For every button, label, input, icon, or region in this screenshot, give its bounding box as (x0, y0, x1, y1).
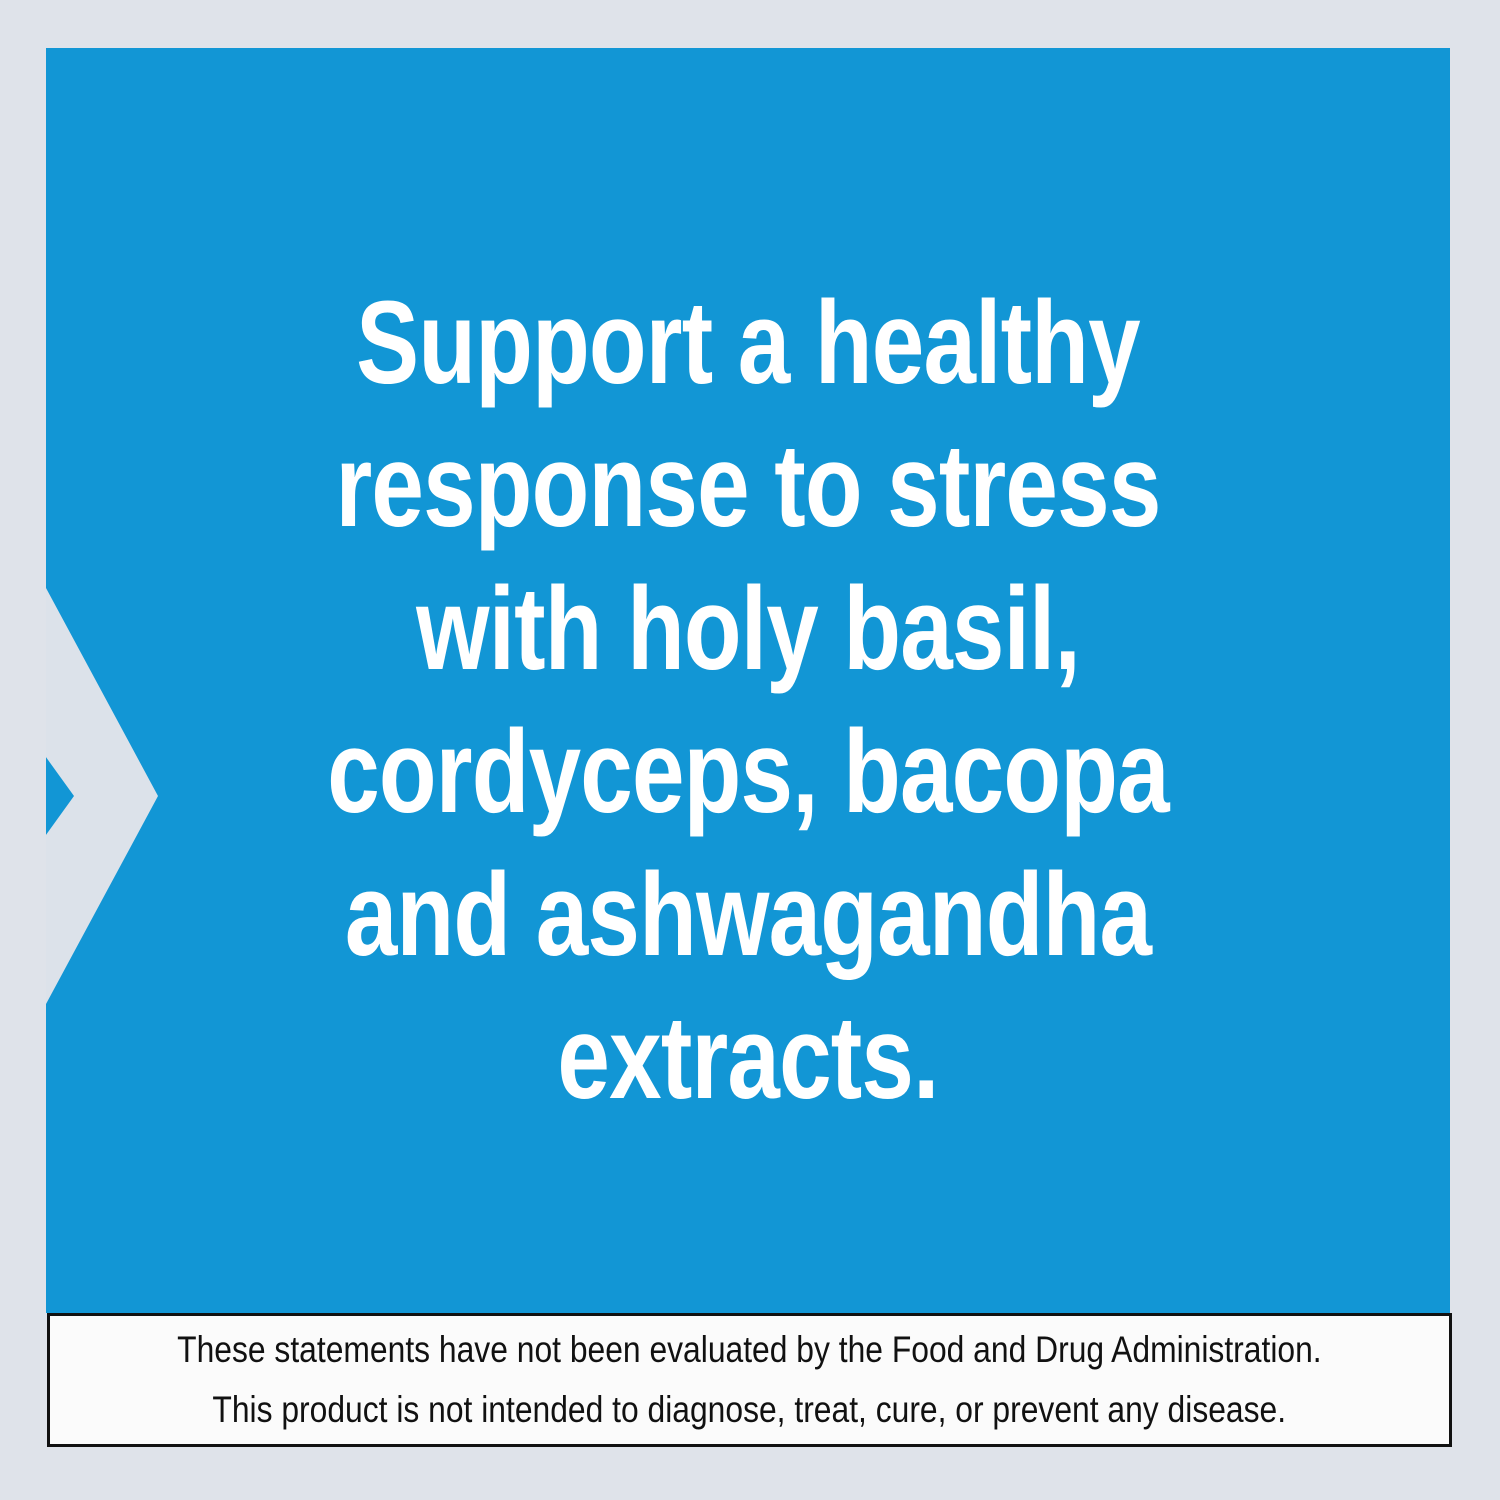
headline-line-6: extracts. (186, 987, 1309, 1130)
headline-line-1: Support a healthy (186, 272, 1309, 415)
marketing-image-canvas: Support a healthy response to stress wit… (0, 0, 1500, 1500)
disclaimer-line-1: These statements have not been evaluated… (177, 1320, 1321, 1380)
headline-line-3: with holy basil, (186, 558, 1309, 701)
headline-line-5: and ashwagandha (186, 844, 1309, 987)
headline-line-4: cordyceps, bacopa (186, 701, 1309, 844)
hero-panel: Support a healthy response to stress wit… (46, 48, 1450, 1313)
disclaimer-line-2: This product is not intended to diagnose… (213, 1380, 1287, 1440)
headline-block: Support a healthy response to stress wit… (46, 272, 1450, 1130)
headline-line-2: response to stress (186, 415, 1309, 558)
fda-disclaimer-box: These statements have not been evaluated… (47, 1313, 1452, 1447)
